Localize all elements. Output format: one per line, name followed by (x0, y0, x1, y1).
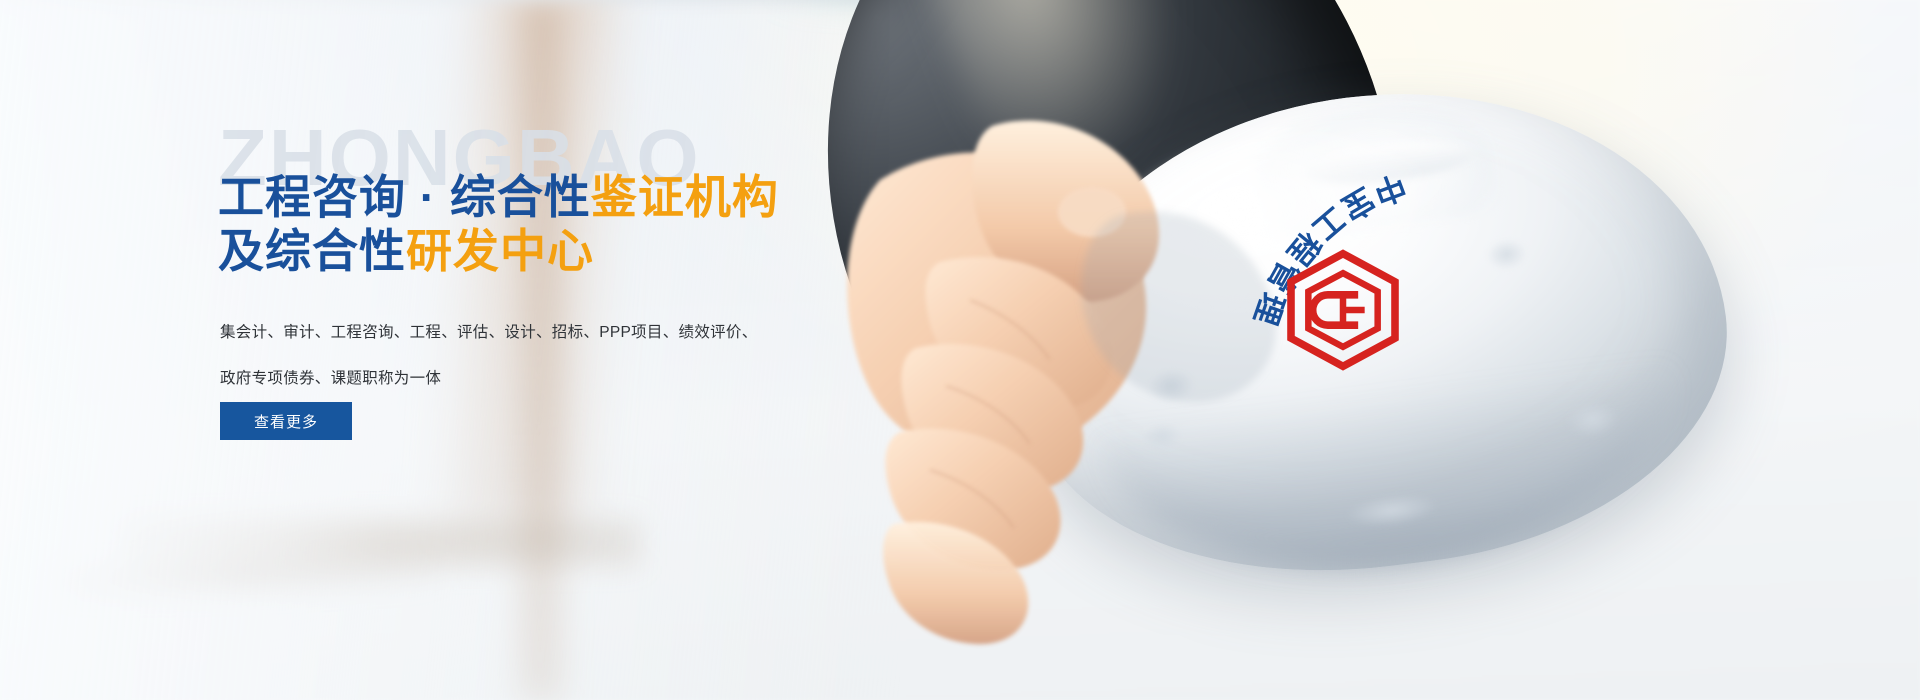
hexagon-monogram-logo-icon (1278, 245, 1408, 375)
helmet-branding: 中宝工程管理 (1160, 140, 1520, 470)
view-more-button[interactable]: 查看更多 (220, 402, 352, 440)
headline-line-2-primary: 及综合性 (218, 225, 406, 277)
headline-line-1: 工程咨询 · 综合性鉴证机构 (218, 170, 779, 224)
hero-banner: 中宝工程管理 ZHONGBAO 工程咨询 · 综合性鉴证机构 及综合性研发中 (0, 0, 1920, 700)
headline-line-1-primary: 工程咨询 · 综合性 (218, 171, 591, 223)
headline-line-2: 及综合性研发中心 (218, 224, 779, 278)
hero-description: 集会计、审计、工程咨询、工程、评估、设计、招标、PPP项目、绩效评价、 政府专项… (220, 310, 820, 401)
headline-line-1-accent: 鉴证机构 (591, 171, 779, 223)
hero-description-line-2: 政府专项债券、课题职称为一体 (220, 356, 820, 402)
page-title: 工程咨询 · 综合性鉴证机构 及综合性研发中心 (218, 170, 779, 279)
hero-description-line-1: 集会计、审计、工程咨询、工程、评估、设计、招标、PPP项目、绩效评价、 (220, 310, 820, 356)
hero-text-block: ZHONGBAO 工程咨询 · 综合性鉴证机构 及综合性研发中心 集会计、审计、… (218, 0, 998, 700)
headline-line-2-accent: 研发中心 (406, 225, 594, 277)
